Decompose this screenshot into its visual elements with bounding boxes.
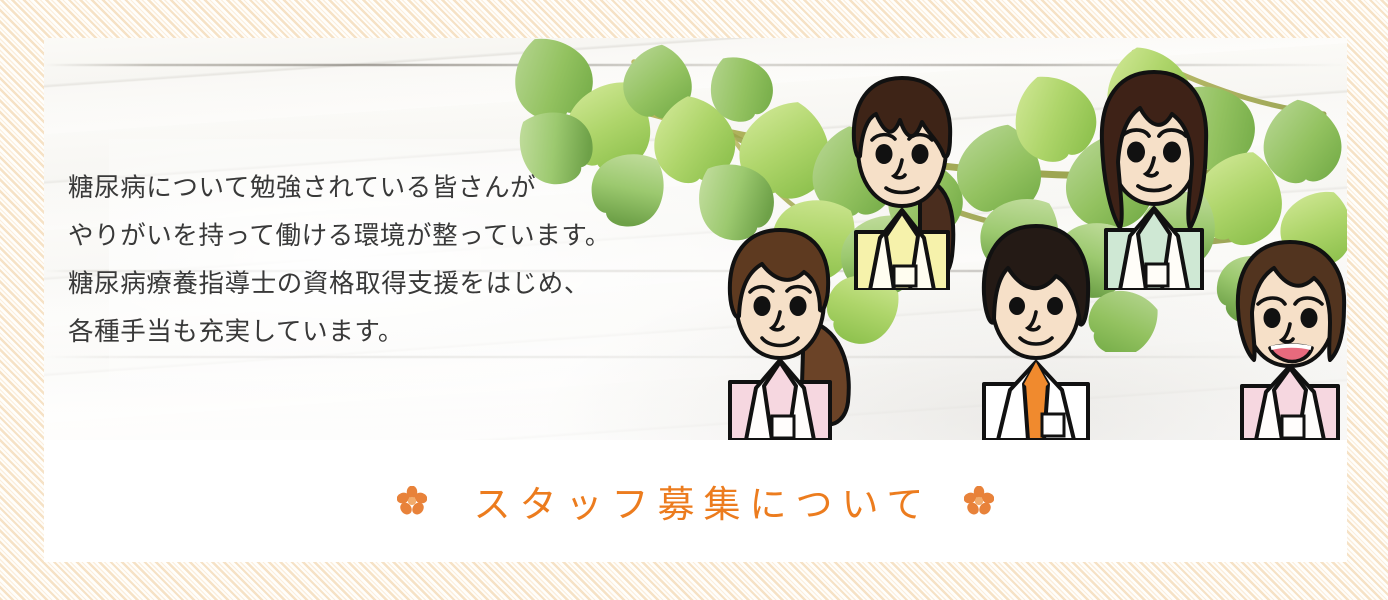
section-heading-bar: スタッフ募集について [44, 440, 1347, 562]
page-background: 糖尿病について勉強されている皆さんが やりがいを持って働ける環境が整っています。… [0, 0, 1388, 600]
page-title: スタッフ募集について [465, 474, 933, 528]
hero-paragraph: 糖尿病について勉強されている皆さんが やりがいを持って働ける環境が整っています。… [68, 164, 708, 356]
staff-avatar-front-right [1190, 234, 1347, 440]
hero-line-1: 糖尿病について勉強されている皆さんが [68, 164, 708, 212]
staff-avatar-front-center [932, 206, 1140, 440]
content-card: 糖尿病について勉強されている皆さんが やりがいを持って働ける環境が整っています。… [44, 38, 1347, 562]
hero-line-4: 各種手当も充実しています。 [68, 308, 708, 356]
flower-icon [397, 486, 427, 516]
flower-icon [964, 486, 994, 516]
staff-avatar-front-left [676, 216, 884, 440]
hero-photo: 糖尿病について勉強されている皆さんが やりがいを持って働ける環境が整っています。… [44, 38, 1347, 440]
hero-line-3: 糖尿病療養指導士の資格取得支援をはじめ、 [68, 260, 708, 308]
hero-line-2: やりがいを持って働ける環境が整っています。 [68, 212, 708, 260]
